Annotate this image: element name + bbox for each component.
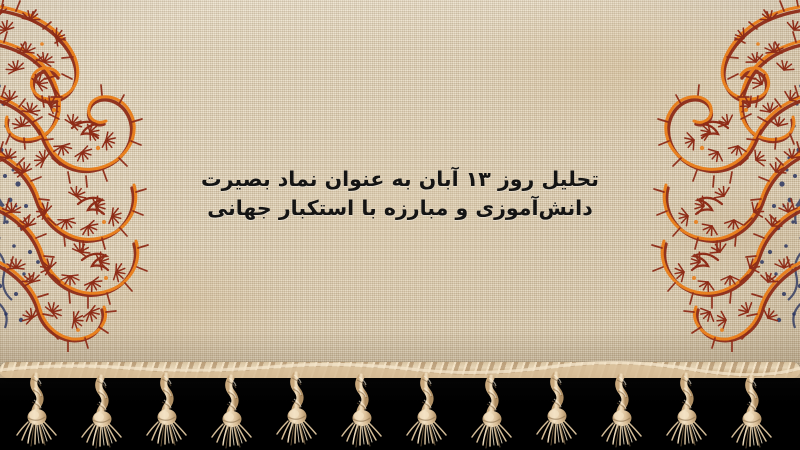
black-background [0,374,800,450]
caption-line-2: دانش‌آموزی و مبارزه با استکبار جهانی [0,195,800,222]
braided-selvedge-rope [0,362,800,378]
banner-caption: تحلیل روز ۱۳ آبان به عنوان نماد بصیرت دا… [0,166,800,221]
caption-line-1: تحلیل روز ۱۳ آبان به عنوان نماد بصیرت [0,166,800,193]
banner-image: تحلیل روز ۱۳ آبان به عنوان نماد بصیرت دا… [0,0,800,450]
